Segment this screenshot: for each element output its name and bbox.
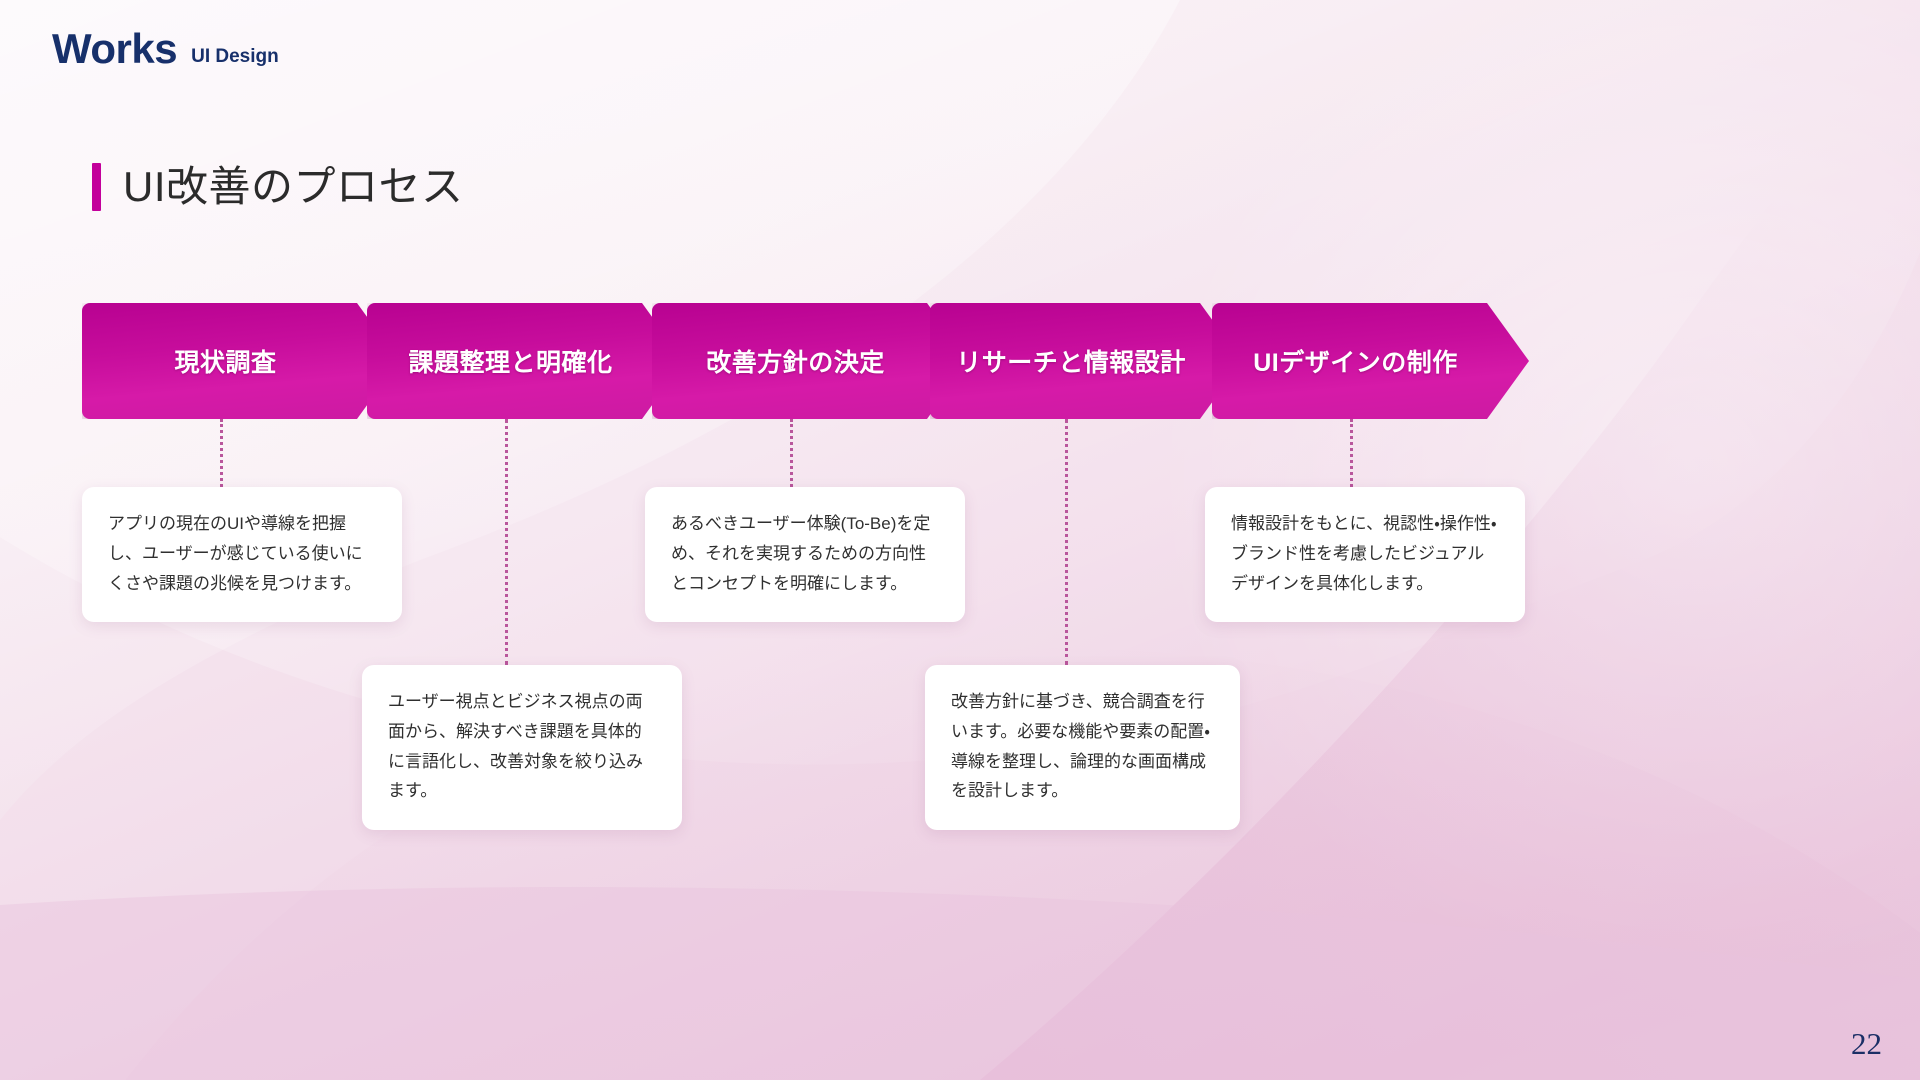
process-step-chevron[interactable]: 改善方針の決定 (652, 303, 969, 419)
process-step-card: 情報設計をもとに、視認性・操作性・ブランド性を考慮したビジュアルデザインを具体化… (1205, 487, 1525, 622)
brand-subtitle: UI Design (191, 47, 279, 70)
process-step-card: あるべきユーザー体験(To-Be)を定め、それを実現するための方向性とコンセプト… (645, 487, 965, 622)
process-step-connector (1350, 419, 1353, 487)
process-step-chevron[interactable]: UIデザインの制作 (1212, 303, 1529, 419)
process-step-label: リサーチと情報設計 (956, 343, 1186, 379)
brand-name: Works (52, 28, 177, 70)
process-step-chevron[interactable]: 現状調査 (82, 303, 399, 419)
process-step-connector (790, 419, 793, 487)
page-number: 22 (1851, 1026, 1882, 1062)
process-step-description: ユーザー視点とビジネス視点の両面から、解決すべき課題を具体的に言語化し、改善対象… (388, 692, 643, 800)
process-step-description: アプリの現在のUIや導線を把握し、ユーザーが感じている使いにくさや課題の兆候を見… (108, 514, 363, 593)
process-step-card: ユーザー視点とビジネス視点の両面から、解決すべき課題を具体的に言語化し、改善対象… (362, 665, 682, 830)
process-step-connector (220, 419, 223, 487)
slide-canvas: Works UI Design UI改善のプロセス 現状調査課題整理と明確化改善… (0, 0, 1920, 1080)
page-title: UI改善のプロセス (92, 163, 464, 211)
process-step-description: 改善方針に基づき、競合調査を行います。必要な機能や要素の配置・導線を整理し、論理… (951, 692, 1210, 800)
process-step-label: 現状調査 (174, 343, 276, 379)
brand-logo: Works UI Design (52, 28, 279, 70)
process-step-label: 課題整理と明確化 (408, 343, 612, 379)
process-step-card: 改善方針に基づき、競合調査を行います。必要な機能や要素の配置・導線を整理し、論理… (925, 665, 1240, 830)
process-step-connector (505, 419, 508, 665)
title-text: UI改善のプロセス (123, 164, 464, 210)
process-step-card: アプリの現在のUIや導線を把握し、ユーザーが感じている使いにくさや課題の兆候を見… (82, 487, 402, 622)
title-accent-bar (92, 163, 101, 211)
process-step-description: 情報設計をもとに、視認性・操作性・ブランド性を考慮したビジュアルデザインを具体化… (1231, 514, 1497, 593)
process-step-description: あるべきユーザー体験(To-Be)を定め、それを実現するための方向性とコンセプト… (671, 514, 930, 593)
process-step-label: UIデザインの制作 (1253, 343, 1458, 379)
process-chevron-row: 現状調査課題整理と明確化改善方針の決定リサーチと情報設計UIデザインの制作 (82, 303, 1482, 419)
process-step-chevron[interactable]: リサーチと情報設計 (930, 303, 1242, 419)
process-step-label: 改善方針の決定 (706, 343, 885, 379)
process-step-chevron[interactable]: 課題整理と明確化 (367, 303, 684, 419)
process-step-connector (1065, 419, 1068, 665)
